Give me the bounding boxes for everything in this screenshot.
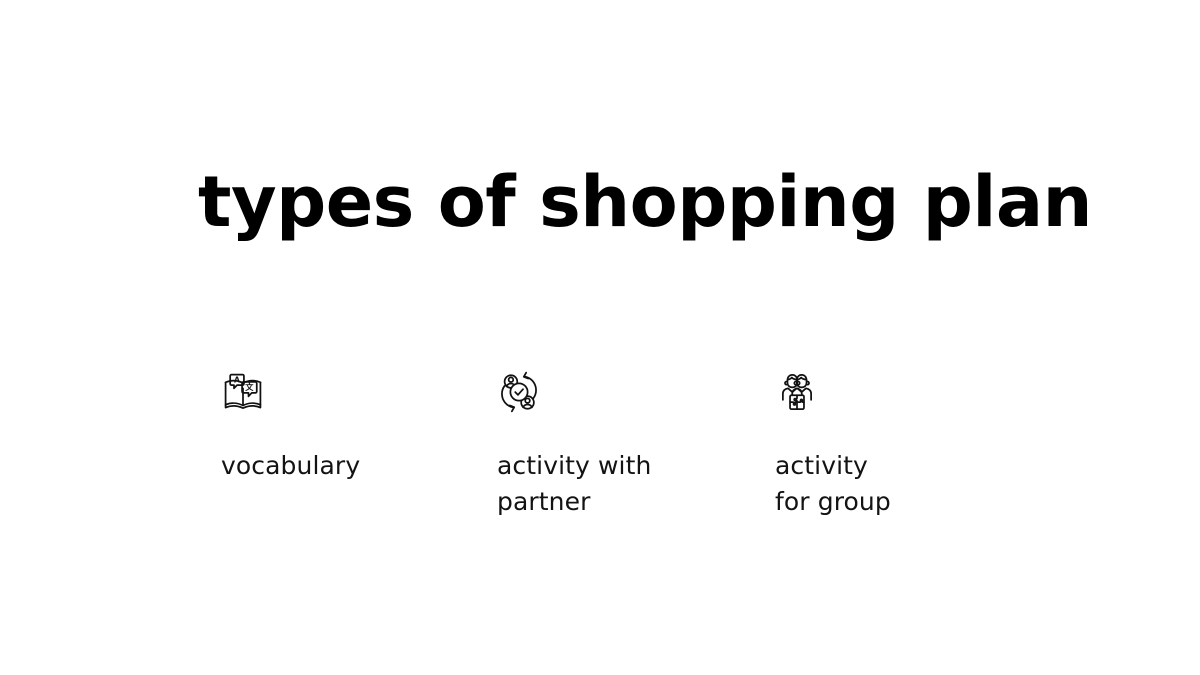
slide-canvas: types of shopping plan A — [0, 0, 1200, 675]
book-translation-icon: A 文 — [221, 370, 265, 414]
column-vocabulary: A 文 vocabulary — [221, 370, 471, 484]
column-activity-for-group: activity for group — [775, 370, 1025, 519]
column-activity-with-partner: activity with partner — [497, 370, 747, 519]
column-label-vocabulary: vocabulary — [221, 448, 421, 484]
svg-text:A: A — [234, 375, 240, 384]
page-title: types of shopping plan — [198, 165, 1018, 241]
column-label-activity-with-partner: activity with partner — [497, 448, 697, 519]
group-people-puzzle-icon — [775, 370, 819, 414]
svg-text:文: 文 — [245, 382, 254, 392]
feature-columns: A 文 vocabulary — [0, 370, 1200, 560]
partner-exchange-check-icon — [497, 370, 541, 414]
column-label-activity-for-group: activity for group — [775, 448, 975, 519]
